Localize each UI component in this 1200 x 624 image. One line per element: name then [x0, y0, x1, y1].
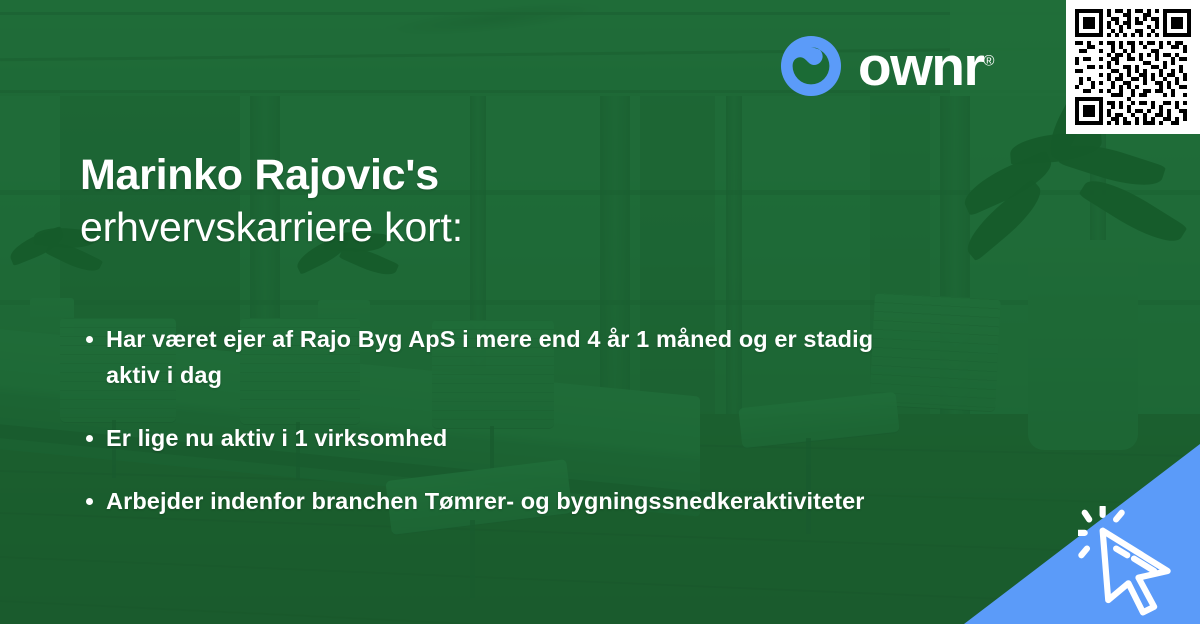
- ownr-wordmark-text: ownr: [858, 35, 983, 97]
- list-item: Har været ejer af Rajo Byg ApS i mere en…: [80, 322, 906, 394]
- business-career-card: ownr®: [0, 0, 1200, 624]
- qr-code[interactable]: [1066, 0, 1200, 134]
- list-item: Arbejder indenfor branchen Tømrer- og by…: [80, 484, 906, 520]
- qr-code-image: [1075, 9, 1191, 125]
- ownr-circular-swirl-logo-icon: [780, 35, 842, 97]
- registered-trademark-symbol: ®: [983, 52, 994, 69]
- blue-corner-decoration: [964, 444, 1200, 624]
- ownr-logo[interactable]: ownr®: [780, 35, 994, 97]
- career-facts-list: Har været ejer af Rajo Byg ApS i mere en…: [80, 322, 1000, 520]
- click-cursor-icon: [1078, 506, 1190, 618]
- card-content: Marinko Rajovic's erhvervskarriere kort:…: [80, 150, 1000, 547]
- ownr-wordmark: ownr®: [858, 39, 994, 94]
- list-item: Er lige nu aktiv i 1 virksomhed: [80, 421, 906, 457]
- page-title-line-2: erhvervskarriere kort:: [80, 201, 1000, 254]
- page-title-line-1: Marinko Rajovic's: [80, 150, 1000, 201]
